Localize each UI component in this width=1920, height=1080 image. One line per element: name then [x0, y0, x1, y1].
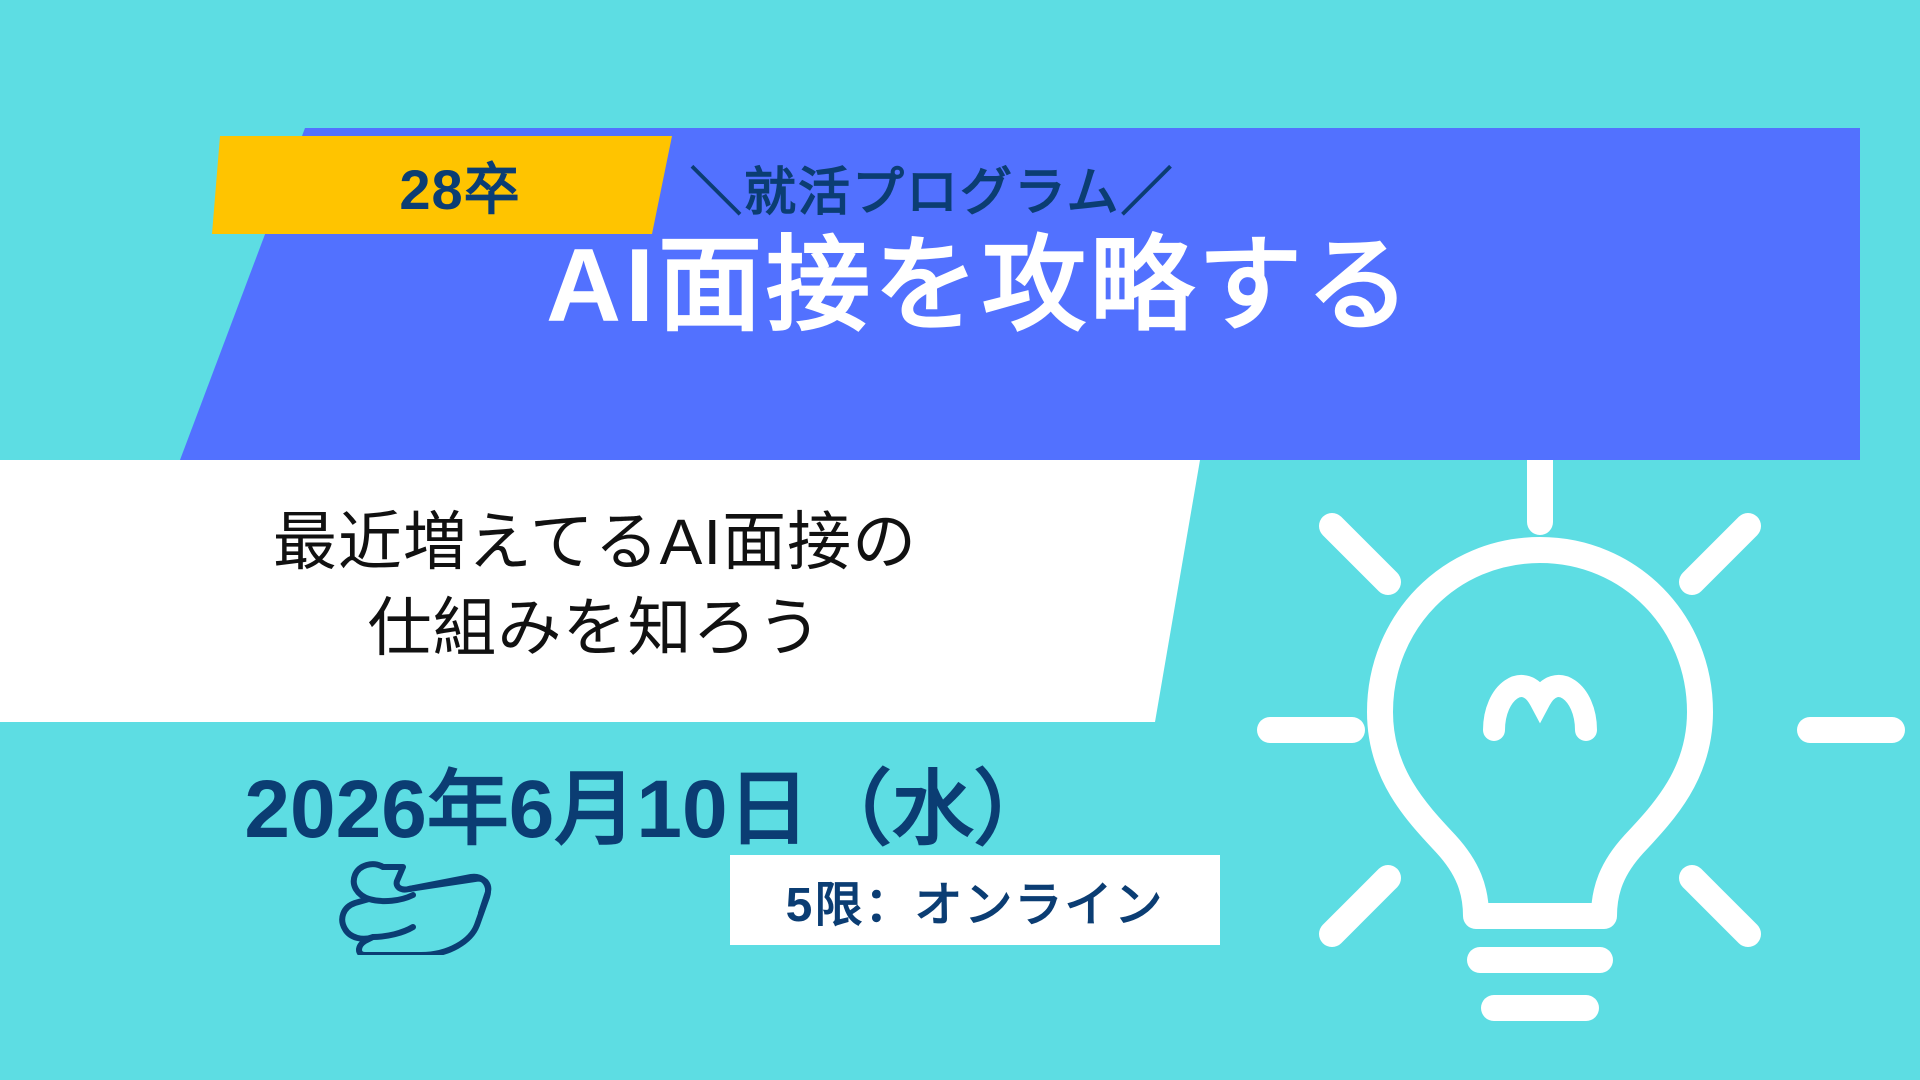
- subtitle-text: 最近増えてるAI面接の 仕組みを知ろう: [30, 500, 1160, 672]
- pointing-hand-icon: [325, 845, 505, 955]
- poster-canvas: ＼就活プログラム／ AI面接を攻略する 28卒 最近増えてるAI面接の 仕組みを…: [0, 0, 1920, 1080]
- grad-year-badge-label: 28卒: [399, 145, 520, 226]
- page-title: AI面接を攻略する: [546, 228, 1414, 344]
- subtitle-line-2: 仕組みを知ろう: [30, 586, 1160, 672]
- grad-year-badge: 28卒: [212, 136, 672, 234]
- banner-kicker: ＼就活プログラム／: [690, 150, 1174, 225]
- session-badge-label: 5限：オンライン: [786, 865, 1165, 935]
- subtitle-line-1: 最近増えてるAI面接の: [30, 500, 1160, 586]
- event-date: 2026年6月10日（水）: [0, 742, 1300, 861]
- session-badge: 5限：オンライン: [730, 855, 1220, 945]
